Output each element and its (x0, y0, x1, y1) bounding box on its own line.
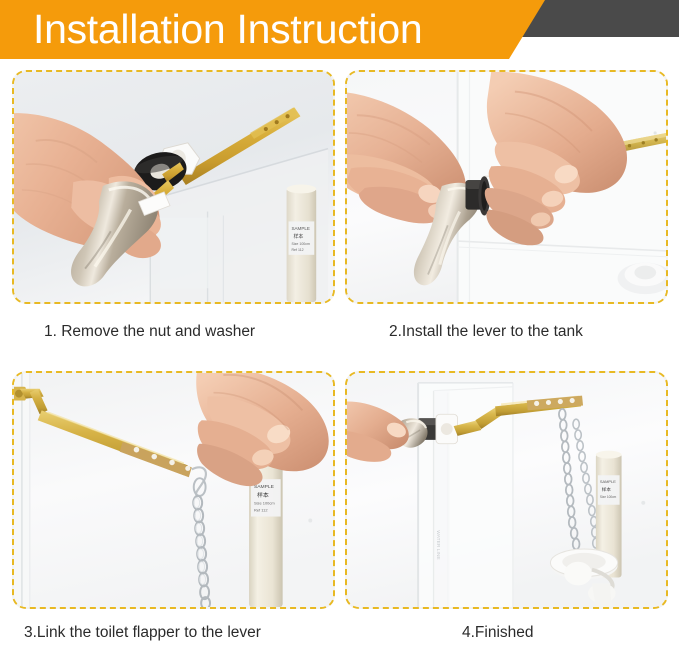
step-1-caption: 1. Remove the nut and washer (44, 322, 255, 342)
svg-text:SAMPLE: SAMPLE (292, 226, 310, 231)
step-3-illustration: SAMPLE 样本 Size 100cm Ref 112 (14, 373, 333, 607)
step-3-caption: 3.Link the toilet flapper to the lever (24, 623, 261, 643)
installation-instruction-page: Installation Instruction (0, 0, 679, 647)
header-banner: Installation Instruction (0, 0, 679, 60)
svg-text:SAMPLE: SAMPLE (254, 484, 275, 490)
svg-text:Ref 112: Ref 112 (254, 508, 268, 513)
step-2-photo (345, 70, 668, 304)
step-4-photo: WATER LINE (345, 371, 668, 609)
svg-text:Size 100cm: Size 100cm (600, 495, 617, 499)
svg-text:Ref 112: Ref 112 (292, 248, 304, 252)
step-4-illustration: WATER LINE (347, 373, 666, 607)
step-2-caption: 2.Install the lever to the tank (389, 322, 583, 342)
step-1-photo: SAMPLE 样本 Size 100cm Ref 112 (12, 70, 335, 304)
svg-text:WATER LINE: WATER LINE (435, 530, 441, 560)
step-3-photo: SAMPLE 样本 Size 100cm Ref 112 (12, 371, 335, 609)
svg-text:样本: 样本 (602, 486, 612, 493)
page-title: Installation Instruction (33, 3, 422, 55)
svg-text:Size 100cm: Size 100cm (254, 501, 275, 506)
step-2-illustration (347, 72, 666, 302)
svg-text:Size 100cm: Size 100cm (292, 242, 311, 246)
step-1-illustration: SAMPLE 样本 Size 100cm Ref 112 (14, 72, 333, 302)
svg-text:样本: 样本 (257, 491, 269, 499)
svg-text:样本: 样本 (293, 233, 303, 240)
svg-text:SAMPLE: SAMPLE (600, 479, 616, 484)
step-4-caption: 4.Finished (462, 623, 534, 643)
